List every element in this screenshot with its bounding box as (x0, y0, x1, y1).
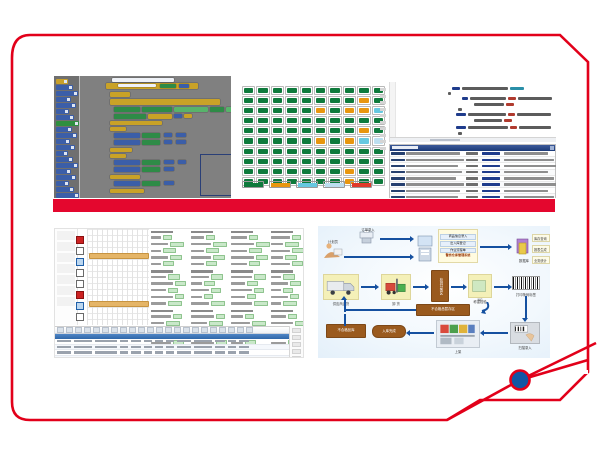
flow-arrow-ng-curve (474, 302, 490, 316)
plan-text-group (271, 270, 304, 305)
flow-node-planner[interactable] (322, 242, 344, 260)
status-cell[interactable] (343, 116, 356, 125)
toolbar-button[interactable] (165, 327, 172, 333)
status-cell[interactable] (357, 116, 370, 125)
status-cell[interactable] (328, 147, 341, 156)
flow-node-shelving[interactable] (436, 320, 480, 348)
flow-arrow-order-to-system (380, 238, 410, 240)
toolbar-button[interactable] (210, 327, 217, 333)
status-cell[interactable] (357, 136, 370, 145)
status-cell[interactable] (328, 106, 341, 115)
flow-arrow-count-to-barcode (494, 286, 508, 288)
printer-icon (356, 230, 378, 246)
blocks-canvas[interactable] (84, 76, 231, 198)
status-cell[interactable] (242, 126, 255, 135)
flow-label-unload: 卸 货 (380, 301, 412, 306)
status-cell[interactable] (357, 126, 370, 135)
status-cell[interactable] (285, 106, 298, 115)
status-cell[interactable] (271, 136, 284, 145)
code-horizontal-scrollbar[interactable] (390, 137, 556, 142)
flow-node-count-check[interactable] (468, 274, 492, 298)
legend-chip-fault (350, 181, 372, 188)
plan-text-row (271, 248, 304, 253)
plan-text-row (271, 235, 304, 240)
legend-chip-reserved (269, 181, 291, 188)
plan-text-row (271, 274, 304, 279)
plan-text-row (271, 314, 304, 319)
status-cell[interactable] (328, 116, 341, 125)
status-cell[interactable] (300, 167, 313, 176)
status-cell[interactable] (343, 96, 356, 105)
palette-block[interactable] (56, 145, 75, 150)
toolbar-button[interactable] (228, 327, 235, 333)
blocks-palette[interactable] (54, 76, 80, 198)
palette-block[interactable] (56, 79, 68, 84)
status-cell[interactable] (271, 157, 284, 166)
status-cell[interactable] (242, 116, 255, 125)
status-cell[interactable] (256, 126, 269, 135)
toolbar-button[interactable] (246, 327, 253, 333)
side-button[interactable] (292, 356, 301, 358)
palette-block[interactable] (56, 103, 76, 108)
flow-arrow-reject-to-store (344, 309, 416, 311)
plan-text-columns (151, 231, 289, 325)
slide-root: 订单录入 计划员 商品信息录入 出入库登记 作业流程单 警务仓库 (0, 0, 600, 450)
toolbar-button[interactable] (156, 327, 163, 333)
wms-line-2: 出入库登记 (440, 241, 475, 247)
status-cell[interactable] (285, 167, 298, 176)
flow-label-shelving: 上架 (444, 349, 472, 354)
flow-label-planner: 计划员 (318, 239, 348, 244)
status-grid-legend (242, 181, 372, 188)
forklift-icon (382, 275, 410, 299)
flow-side-label: 库存查询 (532, 234, 550, 242)
decorative-frame (0, 0, 600, 450)
status-cell[interactable] (271, 106, 284, 115)
status-cell[interactable] (271, 86, 284, 95)
status-cell[interactable] (314, 147, 327, 156)
toolbar-button[interactable] (147, 327, 154, 333)
status-cell[interactable] (300, 96, 313, 105)
status-cell[interactable] (271, 147, 284, 156)
shelf-icon (437, 321, 479, 347)
status-cell[interactable] (242, 106, 255, 115)
flow-node-reject-area[interactable]: 不合格品暂存区 (416, 304, 470, 316)
red-divider-banner (53, 199, 555, 212)
status-cell[interactable] (343, 157, 356, 166)
wms-line-1: 商品信息录入 (440, 234, 475, 240)
flow-side-labels: 库存查询报表生成业务统计 (532, 234, 550, 267)
status-cell[interactable] (300, 116, 313, 125)
toolbar-button[interactable] (138, 327, 145, 333)
status-cell[interactable] (372, 177, 385, 186)
status-cell[interactable] (256, 106, 269, 115)
palette-block[interactable] (56, 115, 74, 120)
status-cell[interactable] (328, 126, 341, 135)
status-cell[interactable] (285, 157, 298, 166)
flow-side-label: 报表生成 (532, 245, 550, 253)
status-cell[interactable] (271, 167, 284, 176)
palette-block[interactable] (56, 121, 79, 126)
accent-dot-lower (511, 371, 530, 390)
palette-block[interactable] (56, 169, 71, 174)
palette-block[interactable] (56, 91, 78, 96)
status-cell[interactable] (328, 136, 341, 145)
status-cell[interactable] (300, 106, 313, 115)
toolbar-button[interactable] (219, 327, 226, 333)
status-cell[interactable] (256, 116, 269, 125)
toolbar-button[interactable] (93, 327, 100, 333)
status-cell[interactable] (357, 167, 370, 176)
status-cell[interactable] (285, 116, 298, 125)
palette-block[interactable] (56, 187, 74, 192)
status-grid-cells[interactable] (242, 86, 385, 186)
screenshot-logistics-flow[interactable]: 订单录入 计划员 商品信息录入 出入库登记 作业流程单 警务仓库 (318, 226, 550, 358)
plan-data-table[interactable] (55, 326, 303, 357)
status-cell[interactable] (300, 126, 313, 135)
flow-arrow-shelving-to-done (410, 332, 434, 334)
status-cell[interactable] (343, 106, 356, 115)
status-cell[interactable] (256, 86, 269, 95)
flow-node-inbound-done[interactable]: 入库完成 (372, 325, 406, 338)
status-cell[interactable] (256, 147, 269, 156)
status-cell[interactable] (285, 96, 298, 105)
plan-text-row (271, 301, 304, 306)
palette-block[interactable] (56, 109, 69, 114)
status-cell[interactable] (343, 126, 356, 135)
flow-label-supplier-delivery: 供应商送货 (321, 301, 361, 306)
status-cell[interactable] (242, 157, 255, 166)
palette-block[interactable] (56, 157, 73, 162)
status-cell[interactable] (343, 167, 356, 176)
flow-node-order-entry[interactable] (356, 230, 378, 246)
status-cell[interactable] (343, 136, 356, 145)
plan-text-group (271, 231, 304, 266)
toolbar-button[interactable] (201, 327, 208, 333)
flow-node-unload[interactable] (381, 274, 411, 300)
palette-block[interactable] (56, 127, 72, 132)
toolbar-button[interactable] (192, 327, 199, 333)
status-cell[interactable] (357, 96, 370, 105)
plan-text-row (271, 255, 304, 260)
status-cell[interactable] (314, 167, 327, 176)
flow-arrow-unload-to-inspect (413, 286, 425, 288)
screenshot-status-grid[interactable] (240, 84, 386, 198)
status-cell[interactable] (242, 136, 255, 145)
palette-block[interactable] (56, 163, 78, 168)
screenshot-planning-board[interactable] (54, 228, 304, 358)
output-log-panel[interactable] (389, 144, 556, 198)
flow-node-scan-in[interactable] (510, 322, 540, 344)
toolbar-button[interactable] (111, 327, 118, 333)
flow-node-barcode-print[interactable] (512, 276, 540, 290)
status-cell[interactable] (271, 116, 284, 125)
status-cell[interactable] (300, 136, 313, 145)
status-cell[interactable] (300, 157, 313, 166)
palette-block[interactable] (56, 151, 68, 156)
status-cell[interactable] (357, 147, 370, 156)
toolbar-button[interactable] (75, 327, 82, 333)
status-cell[interactable] (357, 106, 370, 115)
status-cell[interactable] (285, 147, 298, 156)
flow-arrow-barcode-to-scan (525, 296, 527, 318)
flow-arrow-supplier-to-unload (361, 286, 375, 288)
status-cell[interactable] (328, 86, 341, 95)
hand-scanner-icon (511, 323, 539, 343)
palette-block[interactable] (56, 181, 69, 186)
plan-text-row (271, 321, 304, 326)
plan-text-row (271, 261, 304, 266)
toolbar-button[interactable] (129, 327, 136, 333)
status-cell[interactable] (285, 126, 298, 135)
status-cell[interactable] (328, 167, 341, 176)
status-cell[interactable] (328, 96, 341, 105)
status-cell[interactable] (372, 157, 385, 166)
flow-label-scan-in: 扫描录入 (508, 345, 542, 350)
table-row[interactable] (55, 356, 303, 358)
gantt-bar (89, 253, 149, 259)
status-cell[interactable] (256, 96, 269, 105)
computer-icon (416, 234, 436, 264)
status-cell[interactable] (256, 157, 269, 166)
plan-text-row (271, 294, 304, 299)
plan-side-buttons[interactable] (289, 326, 303, 357)
flow-arrow-rejectwh-to-line (344, 314, 346, 326)
flow-arrow-system-to-db (480, 246, 508, 248)
status-cell[interactable] (271, 126, 284, 135)
side-button[interactable] (292, 342, 301, 347)
plan-text-row (271, 242, 304, 247)
toolbar-button[interactable] (183, 327, 190, 333)
gantt-bar (89, 301, 149, 307)
status-cell[interactable] (343, 86, 356, 95)
flow-node-inspect-sort[interactable]: 检验分拣区 (431, 270, 449, 302)
status-cell[interactable] (314, 96, 327, 105)
output-log-rows[interactable] (390, 151, 555, 198)
flow-node-database[interactable] (514, 236, 532, 258)
flow-node-wms-terminal[interactable] (416, 234, 436, 264)
palette-block[interactable] (56, 133, 77, 138)
plan-status-markers[interactable] (75, 233, 85, 324)
grid-side-rail (380, 88, 386, 153)
code-gutter (390, 82, 396, 142)
palette-block[interactable] (56, 193, 79, 198)
status-cell[interactable] (328, 157, 341, 166)
toolbar-button[interactable] (102, 327, 109, 333)
status-cell[interactable] (314, 126, 327, 135)
palette-block[interactable] (56, 139, 70, 144)
wms-title: 警务仓库管理系统 (446, 254, 471, 258)
toolbar-button[interactable] (120, 327, 127, 333)
status-cell[interactable] (242, 147, 255, 156)
flow-side-label: 业务统计 (532, 256, 550, 264)
status-cell[interactable] (285, 136, 298, 145)
status-cell[interactable] (314, 86, 327, 95)
status-cell[interactable] (314, 106, 327, 115)
toolbar-button[interactable] (84, 327, 91, 333)
flow-arrow-planner-to-system (344, 256, 410, 258)
status-cell[interactable] (372, 167, 385, 176)
plan-gantt-grid[interactable] (87, 229, 149, 325)
code-text-area[interactable] (389, 82, 556, 142)
status-cell[interactable] (314, 116, 327, 125)
flow-arrow-inspect-to-count (451, 286, 463, 288)
scale-icon (469, 275, 491, 297)
flow-label-order-entry: 订单录入 (348, 227, 388, 232)
flow-node-reject-warehouse[interactable]: 不合格品库 (326, 324, 366, 338)
status-cell[interactable] (271, 96, 284, 105)
plan-text-row (271, 288, 304, 293)
person-icon (322, 242, 344, 260)
legend-chip-occupied (296, 181, 318, 188)
legend-chip-free (242, 181, 264, 188)
palette-block[interactable] (56, 85, 73, 90)
status-cell[interactable] (242, 86, 255, 95)
plan-text-row (271, 281, 304, 286)
status-cell[interactable] (285, 86, 298, 95)
status-cell[interactable] (256, 136, 269, 145)
palette-block[interactable] (56, 97, 71, 102)
status-cell[interactable] (314, 157, 327, 166)
flow-node-wms-card[interactable]: 商品信息录入 出入库登记 作业流程单 警务仓库管理系统 (438, 229, 478, 263)
flow-arrow-store-up (344, 300, 346, 312)
status-cell[interactable] (242, 96, 255, 105)
side-button[interactable] (292, 349, 301, 354)
toolbar-button[interactable] (66, 327, 73, 333)
palette-block[interactable] (56, 175, 76, 180)
status-cell[interactable] (357, 157, 370, 166)
status-cell[interactable] (343, 147, 356, 156)
toolbar-button[interactable] (174, 327, 181, 333)
status-cell[interactable] (357, 86, 370, 95)
status-cell[interactable] (300, 147, 313, 156)
toolbar-button[interactable] (237, 327, 244, 333)
status-cell[interactable] (256, 167, 269, 176)
status-cell[interactable] (300, 86, 313, 95)
log-row[interactable] (390, 194, 555, 198)
plan-table-body[interactable] (55, 339, 303, 358)
flow-arrow-scan-to-shelving (484, 332, 508, 334)
status-cell[interactable] (314, 136, 327, 145)
legend-chip-disabled (323, 181, 345, 188)
side-button[interactable] (292, 335, 301, 340)
database-icon (514, 236, 532, 258)
screenshot-code-editor[interactable] (389, 82, 556, 198)
side-button[interactable] (292, 328, 301, 333)
toolbar-button[interactable] (57, 327, 64, 333)
screenshot-blocks-editor[interactable] (54, 76, 231, 198)
plan-table-toolbar[interactable] (55, 327, 303, 334)
status-cell[interactable] (242, 167, 255, 176)
